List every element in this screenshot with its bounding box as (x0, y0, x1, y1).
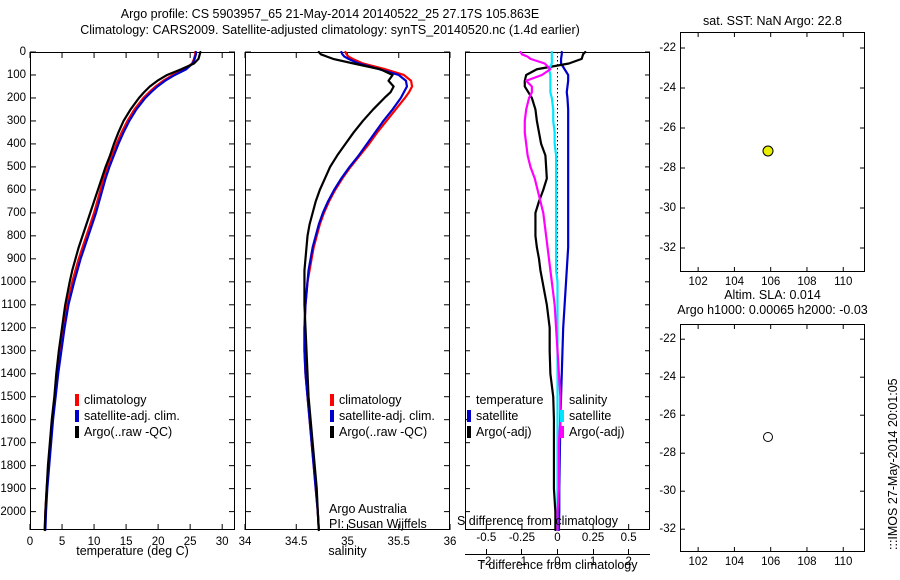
xtick-top-0.5: 0.5 (621, 532, 637, 544)
sst-map-title: sat. SST: NaN Argo: 22.8 (680, 14, 865, 28)
salinity-profile-panel: 3434.53535.536 climatology satellite-adj… (245, 52, 450, 530)
sla-xtick-108: 108 (797, 556, 816, 568)
title-line-1: Argo profile: CS 5903957_65 21-May-2014 … (0, 6, 660, 22)
sla-ytick--24: -24 (659, 371, 676, 383)
argo-profile-marker[interactable] (763, 146, 774, 157)
sla-ytick--28: -28 (659, 447, 676, 459)
temperature-plot-lines (30, 52, 235, 530)
sla-xtick-104: 104 (725, 556, 744, 568)
legend-item-temperature-argo: Argo(-adj) (467, 424, 543, 440)
salinity-xaxis-label: salinity (245, 544, 450, 558)
sla-xtick-102: 102 (689, 556, 708, 568)
sla-caption-argo-heights: Argo h1000: 0.00065 h2000: -0.03 (650, 303, 895, 318)
legend-item-salinity-satellite: satellite (560, 408, 625, 424)
legend-swatch-temperature-satellite (467, 410, 471, 422)
legend-label-salinity-argo: Argo(-adj) (569, 424, 625, 440)
xtick-bottom-mark-1 (593, 549, 594, 554)
ytick-0: 0 (20, 46, 26, 58)
salinity-legend: climatology satellite-adj. clim. Argo(..… (330, 392, 435, 440)
ytick-1600: 1600 (0, 414, 26, 426)
legend-label-temperature-satellite: satellite (476, 408, 518, 424)
difference-plot-lines (465, 52, 650, 530)
ytick-1100: 1100 (1, 299, 26, 311)
difference-bottom-axis-rule (465, 554, 650, 555)
ytick-500: 500 (7, 161, 26, 173)
ytick-1000: 1000 (0, 276, 26, 288)
xtick-bottom-mark-2 (628, 549, 629, 554)
xtick-top-0.25: 0.25 (582, 532, 604, 544)
legend-item-satellite-adj: satellite-adj. clim. (330, 408, 435, 424)
legend-label-climatology: climatology (84, 392, 147, 408)
legend-swatch-satellite-adj (75, 410, 79, 422)
ytick-800: 800 (7, 230, 26, 242)
ytick-2000: 2000 (0, 506, 26, 518)
sst-ytick--30: -30 (659, 202, 676, 214)
ytick-300: 300 (7, 115, 26, 127)
attribution-program: Argo Australia (329, 502, 427, 517)
legend-swatch-salinity-satellite (560, 410, 564, 422)
legend-label-satellite-adj: satellite-adj. clim. (339, 408, 435, 424)
ytick-200: 200 (7, 92, 26, 104)
legend-swatch-salinity-argo (560, 426, 564, 438)
sst-xtick-108: 108 (797, 276, 816, 288)
legend-header-temperature: temperature (467, 392, 543, 408)
ytick-400: 400 (7, 138, 26, 150)
xtick-top-0: 0 (554, 532, 560, 544)
sla-xtick-106: 106 (761, 556, 780, 568)
sla-ytick--26: -26 (659, 409, 676, 421)
ytick-1400: 1400 (0, 368, 26, 380)
sst-ytick--28: -28 (659, 162, 676, 174)
legend-swatch-argo-raw (75, 426, 79, 438)
difference-legend-temperature: temperature satellite Argo(-adj) (467, 392, 543, 440)
ytick-100: 100 (7, 69, 26, 81)
sst-xtick-104: 104 (725, 276, 744, 288)
xtick-bottom-mark--1 (521, 549, 522, 554)
sla-xtick-110: 110 (834, 556, 852, 568)
sst-map-panel: -22-24-26-28-30-32102104106108110 (680, 32, 865, 272)
xtick-top--0.5: -0.5 (476, 532, 496, 544)
legend-header-salinity: salinity (560, 392, 625, 408)
figure-title: Argo profile: CS 5903957_65 21-May-2014 … (0, 6, 660, 38)
ytick-1700: 1700 (0, 437, 26, 449)
difference-legend-salinity: salinity satellite Argo(-adj) (560, 392, 625, 440)
xtick-bottom-mark--2 (486, 549, 487, 554)
legend-item-satellite-adj: satellite-adj. clim. (75, 408, 180, 424)
salinity-attribution-note: Argo Australia PI: Susan Wijffels (329, 502, 427, 532)
legend-label-argo-raw: Argo(..raw -QC) (84, 424, 172, 440)
sst-xtick-106: 106 (761, 276, 780, 288)
imos-timestamp-label: :::IMOS 27-May-2014 20:01:05 (886, 378, 900, 550)
legend-swatch-temperature-argo (467, 426, 471, 438)
sst-ytick--26: -26 (659, 122, 676, 134)
ytick-700: 700 (7, 207, 26, 219)
figure-canvas: Argo profile: CS 5903957_65 21-May-2014 … (0, 0, 900, 580)
legend-label-salinity-satellite: satellite (569, 408, 611, 424)
sla-ytick--30: -30 (659, 485, 676, 497)
legend-item-argo-raw: Argo(..raw -QC) (330, 424, 435, 440)
sst-xtick-110: 110 (834, 276, 852, 288)
title-line-2: Climatology: CARS2009. Satellite-adjuste… (0, 22, 660, 38)
ytick-600: 600 (7, 184, 26, 196)
xtick-bottom-mark-0 (557, 549, 558, 554)
sla-caption-altimeter: Altim. SLA: 0.014 (680, 288, 865, 303)
sla-ytick--32: -32 (659, 523, 676, 535)
legend-swatch-argo-raw (330, 426, 334, 438)
temperature-xaxis-label: temperature (deg C) (30, 544, 235, 558)
legend-item-climatology: climatology (330, 392, 435, 408)
legend-label-satellite-adj: satellite-adj. clim. (84, 408, 180, 424)
attribution-pi: PI: Susan Wijffels (329, 517, 427, 532)
ytick-1900: 1900 (0, 483, 26, 495)
legend-swatch-climatology (330, 394, 334, 406)
sst-ytick--22: -22 (659, 42, 676, 54)
ytick-1200: 1200 (0, 322, 26, 334)
difference-xaxis-bottom-label: T difference from climatology (465, 558, 650, 572)
legend-label-temperature-argo: Argo(-adj) (476, 424, 532, 440)
legend-label-argo-raw: Argo(..raw -QC) (339, 424, 427, 440)
difference-profile-panel: -0.5-0.2500.250.5-2-1012 temperature sat… (465, 52, 650, 530)
salinity-plot-lines (245, 52, 450, 530)
sla-ytick--22: -22 (659, 333, 676, 345)
legend-label-climatology: climatology (339, 392, 402, 408)
legend-swatch-climatology (75, 394, 79, 406)
temperature-profile-panel: 0100200300400500600700800900100011001200… (30, 52, 235, 530)
legend-item-salinity-argo: Argo(-adj) (560, 424, 625, 440)
temperature-legend: climatology satellite-adj. clim. Argo(..… (75, 392, 180, 440)
xtick-top--0.25: -0.25 (509, 532, 535, 544)
legend-item-climatology: climatology (75, 392, 180, 408)
sst-ytick--24: -24 (659, 82, 676, 94)
difference-xaxis-top-label: S difference from climatology (457, 514, 642, 528)
legend-item-temperature-satellite: satellite (467, 408, 543, 424)
legend-swatch-satellite-adj (330, 410, 334, 422)
argo-profile-marker[interactable] (763, 432, 773, 442)
sla-map-panel: -22-24-26-28-30-32102104106108110 (680, 324, 865, 552)
sst-xtick-102: 102 (689, 276, 708, 288)
ytick-1800: 1800 (0, 460, 26, 472)
ytick-1300: 1300 (0, 345, 26, 357)
ytick-1500: 1500 (0, 391, 26, 403)
legend-item-argo-raw: Argo(..raw -QC) (75, 424, 180, 440)
sst-ytick--32: -32 (659, 242, 676, 254)
ytick-900: 900 (7, 253, 26, 265)
